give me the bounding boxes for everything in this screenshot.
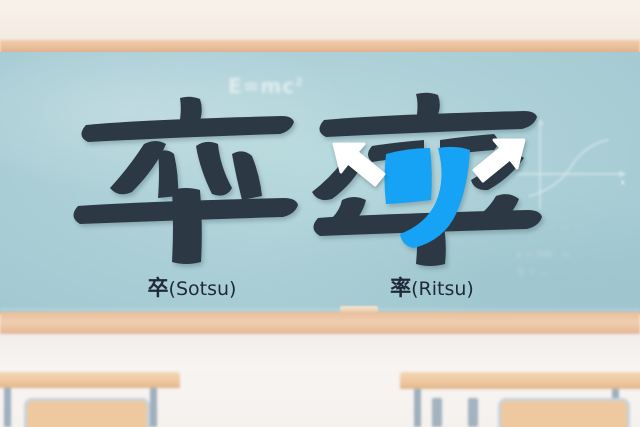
kanji-display-left [72,92,312,267]
kanji-label-right: 率(Ritsu) [312,272,552,302]
kanji-label-left: 卒(Sotsu) [72,272,312,302]
arrow-right-icon [474,140,524,181]
pointer-arrows [312,92,552,267]
chalk-graph-x-label: x [620,178,625,188]
kanji-label-left-char: 卒 [148,276,169,300]
kanji-label-right-char: 率 [390,276,411,300]
kanji-display-right [312,92,552,267]
arrow-left-icon [334,144,384,185]
kanji-label-right-romaji: (Ritsu) [411,278,474,300]
chalk-formula-exponent: 2 [295,75,304,88]
kanji-label-left-romaji: (Sotsu) [169,278,237,300]
classroom-kanji-comparison-image: E=mc2 y x — — — — — a = mb · n b ÷ — ·· … [0,0,640,427]
chalkboard-frame-bottom [0,312,640,334]
kanji-sotsu-glyph [72,92,312,267]
